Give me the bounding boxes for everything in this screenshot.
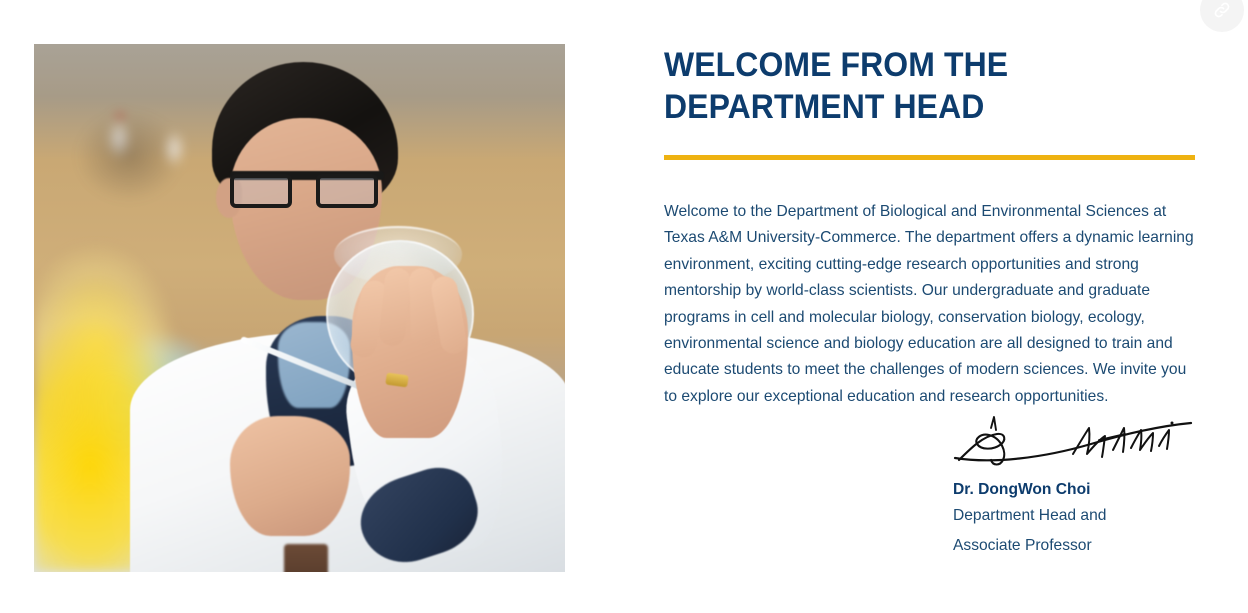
- welcome-content: Welcome from the Department Head Welcome…: [664, 44, 1195, 410]
- signature-block: Dr. DongWon Choi Department Head and Ass…: [953, 414, 1195, 561]
- signature-image: [953, 414, 1195, 472]
- gold-divider: [664, 155, 1195, 160]
- page-title: Welcome from the Department Head: [664, 44, 1021, 128]
- signature-title-line-1: Department Head and: [953, 501, 1195, 531]
- department-head-photo: [34, 44, 565, 572]
- eyeglasses-lens-left: [230, 174, 292, 208]
- bench-object: [284, 544, 328, 572]
- photo-subject: [34, 44, 565, 572]
- eyeglasses-lens-right: [316, 174, 378, 208]
- signature-name: Dr. DongWon Choi: [953, 478, 1195, 501]
- welcome-paragraph: Welcome to the Department of Biological …: [664, 199, 1195, 410]
- welcome-page: Welcome from the Department Head Welcome…: [0, 0, 1248, 613]
- signature-title-line-2: Associate Professor: [953, 531, 1195, 561]
- link-icon: [1212, 0, 1232, 20]
- subject-finger: [409, 268, 438, 347]
- share-link-button[interactable]: [1200, 0, 1244, 32]
- subject-lower-hand: [230, 416, 350, 536]
